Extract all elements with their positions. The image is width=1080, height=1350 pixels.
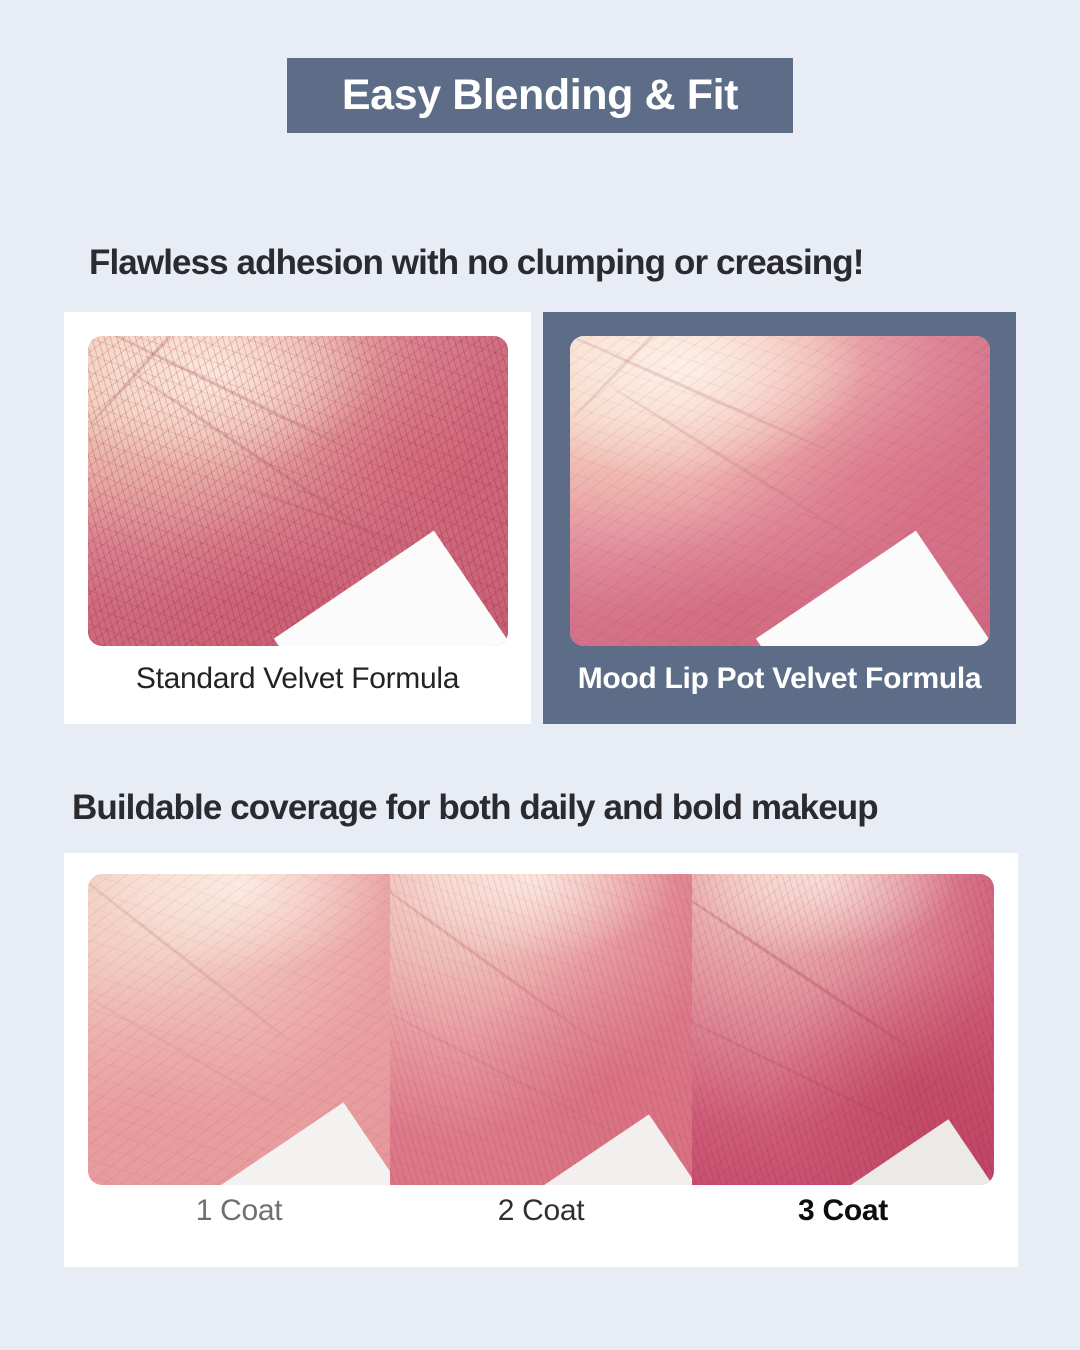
section-heading-buildable: Buildable coverage for both daily and bo… bbox=[72, 788, 878, 828]
coat-label-row: 1 Coat 2 Coat 3 Coat bbox=[88, 1193, 994, 1229]
compare-card-standard: Standard Velvet Formula bbox=[64, 312, 531, 724]
coat-label-2: 2 Coat bbox=[390, 1193, 692, 1229]
card-caption-mood: Mood Lip Pot Velvet Formula bbox=[578, 662, 982, 695]
swatch-standard-velvet bbox=[88, 336, 508, 646]
swatch-three-coat bbox=[692, 874, 994, 1185]
coat-swatch-strip bbox=[88, 874, 994, 1185]
swatch-two-coat bbox=[390, 874, 692, 1185]
title-banner: Easy Blending & Fit bbox=[287, 58, 793, 133]
buildable-coverage-card: 1 Coat 2 Coat 3 Coat bbox=[64, 853, 1018, 1267]
coat-label-1: 1 Coat bbox=[88, 1193, 390, 1229]
card-caption-standard: Standard Velvet Formula bbox=[136, 662, 459, 695]
compare-card-mood: Mood Lip Pot Velvet Formula bbox=[543, 312, 1016, 724]
coat-label-3: 3 Coat bbox=[692, 1193, 994, 1229]
page-title: Easy Blending & Fit bbox=[342, 74, 738, 117]
swatch-one-coat bbox=[88, 874, 390, 1185]
section-heading-adhesion: Flawless adhesion with no clumping or cr… bbox=[89, 243, 864, 283]
swatch-mood-lip-pot bbox=[570, 336, 990, 646]
comparison-row: Standard Velvet Formula Mood Lip Pot Vel… bbox=[64, 312, 1016, 724]
